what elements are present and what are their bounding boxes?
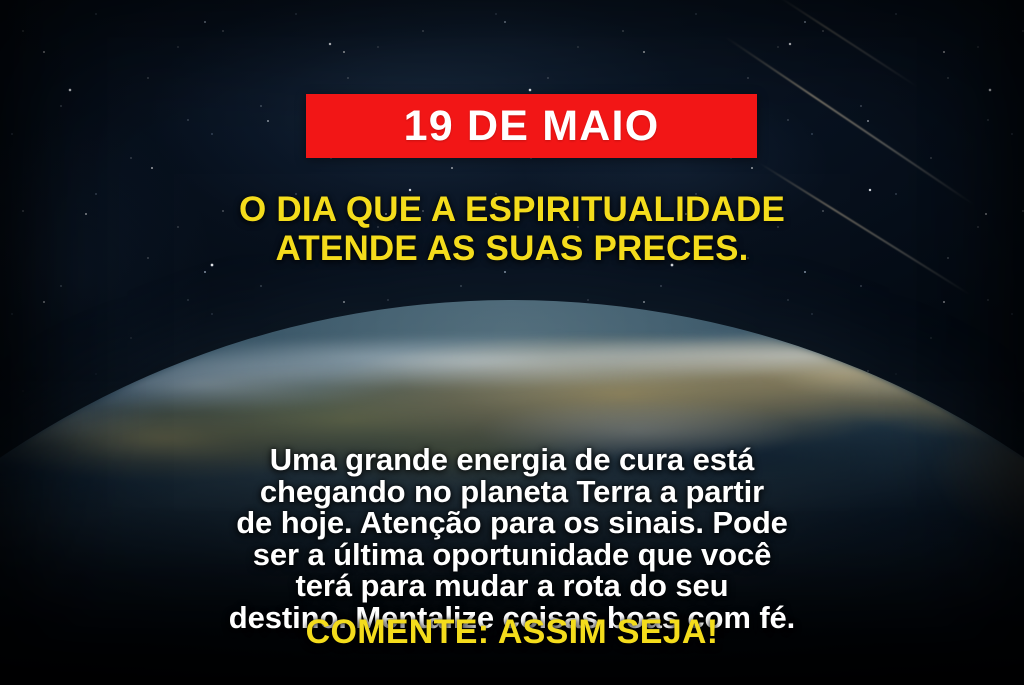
body-line-2: chegando no planeta Terra a partir	[0, 476, 1024, 508]
date-banner-label: 19 DE MAIO	[404, 105, 660, 148]
headline-line-2: ATENDE AS SUAS PRECES.	[0, 229, 1024, 268]
headline: O DIA QUE A ESPIRITUALIDADE ATENDE AS SU…	[0, 190, 1024, 268]
headline-line-1: O DIA QUE A ESPIRITUALIDADE	[0, 190, 1024, 229]
poster-canvas: 19 DE MAIO O DIA QUE A ESPIRITUALIDADE A…	[0, 0, 1024, 685]
call-to-action-text: COMENTE: ASSIM SEJA!	[0, 615, 1024, 649]
body-paragraph: Uma grande energia de cura está chegando…	[0, 444, 1024, 633]
body-line-1: Uma grande energia de cura está	[0, 444, 1024, 476]
body-line-3: de hoje. Atenção para os sinais. Pode	[0, 507, 1024, 539]
body-line-5: terá para mudar a rota do seu	[0, 570, 1024, 602]
poster-content: 19 DE MAIO O DIA QUE A ESPIRITUALIDADE A…	[0, 0, 1024, 685]
body-line-4: ser a última oportunidade que você	[0, 539, 1024, 571]
date-banner: 19 DE MAIO	[306, 94, 757, 158]
